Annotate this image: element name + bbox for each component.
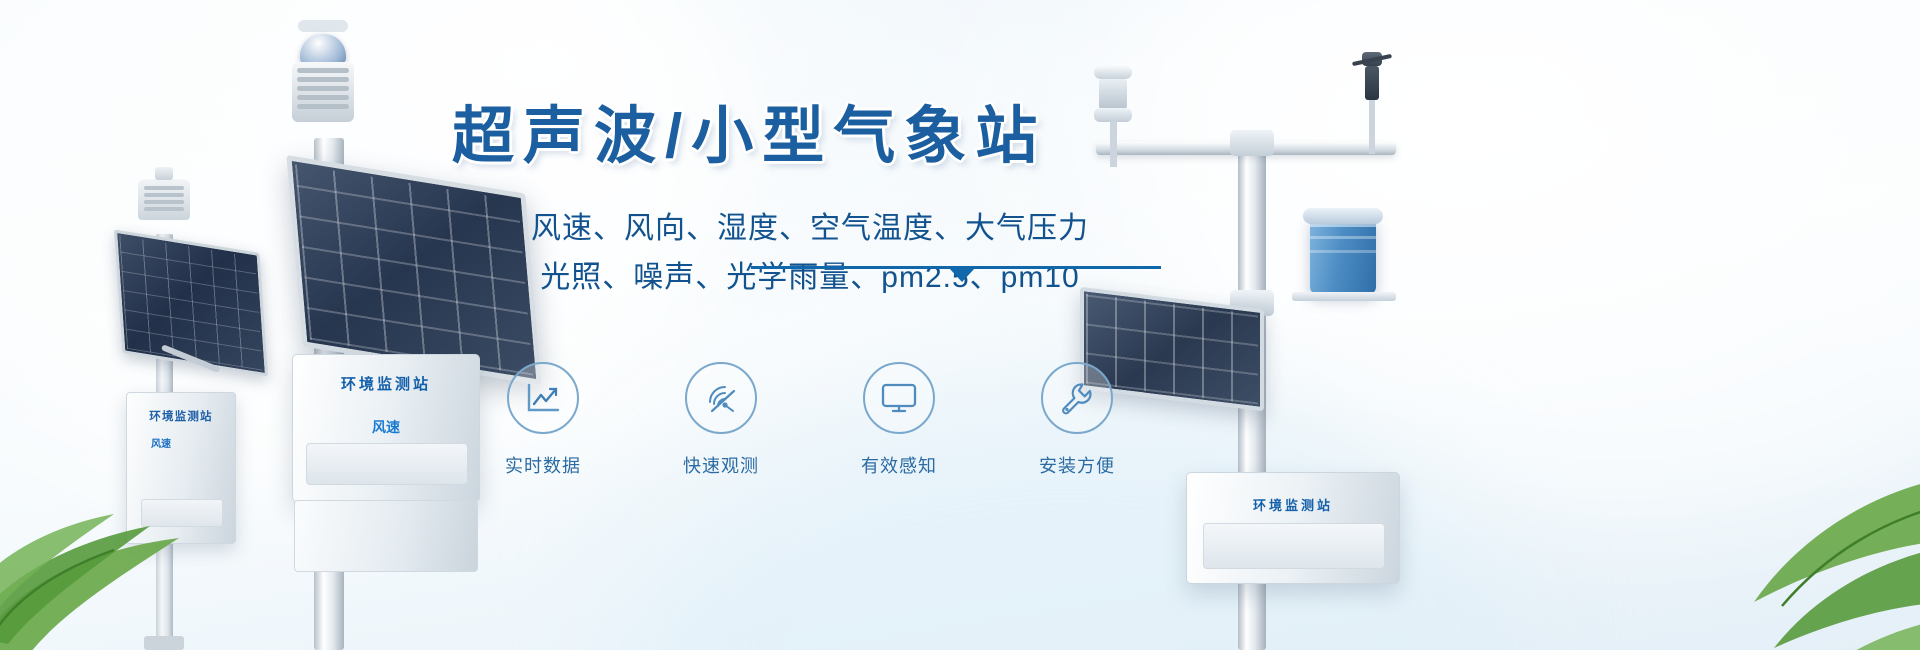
wrench-icon bbox=[1059, 381, 1095, 415]
subtitle-line-2: 光照、噪声、光学雨量、pm2.5、pm10 bbox=[440, 254, 1180, 303]
product-banner: 环境监测站 风速 环境监测站 风速 bbox=[0, 0, 1920, 650]
vane-stem bbox=[1369, 100, 1375, 154]
feature-label: 实时数据 bbox=[484, 452, 602, 478]
page-title: 超声波/小型气象站 bbox=[452, 104, 1180, 169]
sensor-top-cap bbox=[1094, 66, 1132, 79]
wind-vane-sensor bbox=[1354, 52, 1390, 148]
monitor-screen-icon bbox=[880, 382, 918, 414]
feature-list: 实时数据 快速观测 bbox=[440, 362, 1180, 478]
mast-cap bbox=[298, 20, 348, 32]
rain-gauge-sensor bbox=[1310, 216, 1376, 294]
radar-signal-icon bbox=[703, 381, 739, 415]
title-divider bbox=[751, 262, 1161, 276]
feature-icon-circle bbox=[1041, 362, 1113, 434]
feature-item-effective-sensing[interactable]: 有效感知 bbox=[840, 362, 958, 478]
cabinet-vent bbox=[141, 499, 223, 527]
feature-item-realtime-data[interactable]: 实时数据 bbox=[484, 362, 602, 478]
pyranometer-dome-icon bbox=[300, 34, 346, 64]
equipment-cabinet: 环境监测站 bbox=[1186, 472, 1400, 584]
cabinet-label: 环境监测站 bbox=[136, 408, 226, 424]
brand-logo-label: 风速 bbox=[151, 435, 171, 450]
feature-label: 安装方便 bbox=[1018, 452, 1136, 478]
radiation-shield-sensor bbox=[138, 178, 190, 220]
feature-item-easy-install[interactable]: 安装方便 bbox=[1018, 362, 1136, 478]
feature-label: 快速观测 bbox=[662, 452, 780, 478]
feature-icon-circle bbox=[507, 362, 579, 434]
lower-cabinet bbox=[294, 500, 478, 572]
feature-icon-circle bbox=[685, 362, 757, 434]
line-chart-icon bbox=[525, 382, 561, 414]
subtitle-block: 风速、风向、湿度、空气温度、大气压力 光照、噪声、光学雨量、pm2.5、pm10 bbox=[440, 205, 1180, 302]
sensor-shelf bbox=[1292, 292, 1396, 301]
mast-collar-upper bbox=[1230, 130, 1274, 156]
tropical-leaf-right-icon bbox=[1650, 386, 1920, 650]
cabinet-label: 环境监测站 bbox=[1187, 495, 1399, 514]
vane-body bbox=[1365, 66, 1379, 100]
radiation-shield-sensor bbox=[292, 62, 354, 122]
divider-triangle-icon bbox=[949, 268, 975, 282]
equipment-cabinet: 环境监测站 风速 bbox=[126, 392, 236, 544]
pole-base bbox=[144, 636, 184, 650]
banner-content: 超声波/小型气象站 风速、风向、湿度、空气温度、大气压力 光照、噪声、光学雨量、… bbox=[440, 104, 1180, 302]
subtitle-line-1: 风速、风向、湿度、空气温度、大气压力 bbox=[440, 205, 1180, 254]
feature-item-fast-observation[interactable]: 快速观测 bbox=[662, 362, 780, 478]
feature-label: 有效感知 bbox=[840, 452, 958, 478]
cabinet-door bbox=[1203, 523, 1385, 569]
feature-icon-circle bbox=[863, 362, 935, 434]
